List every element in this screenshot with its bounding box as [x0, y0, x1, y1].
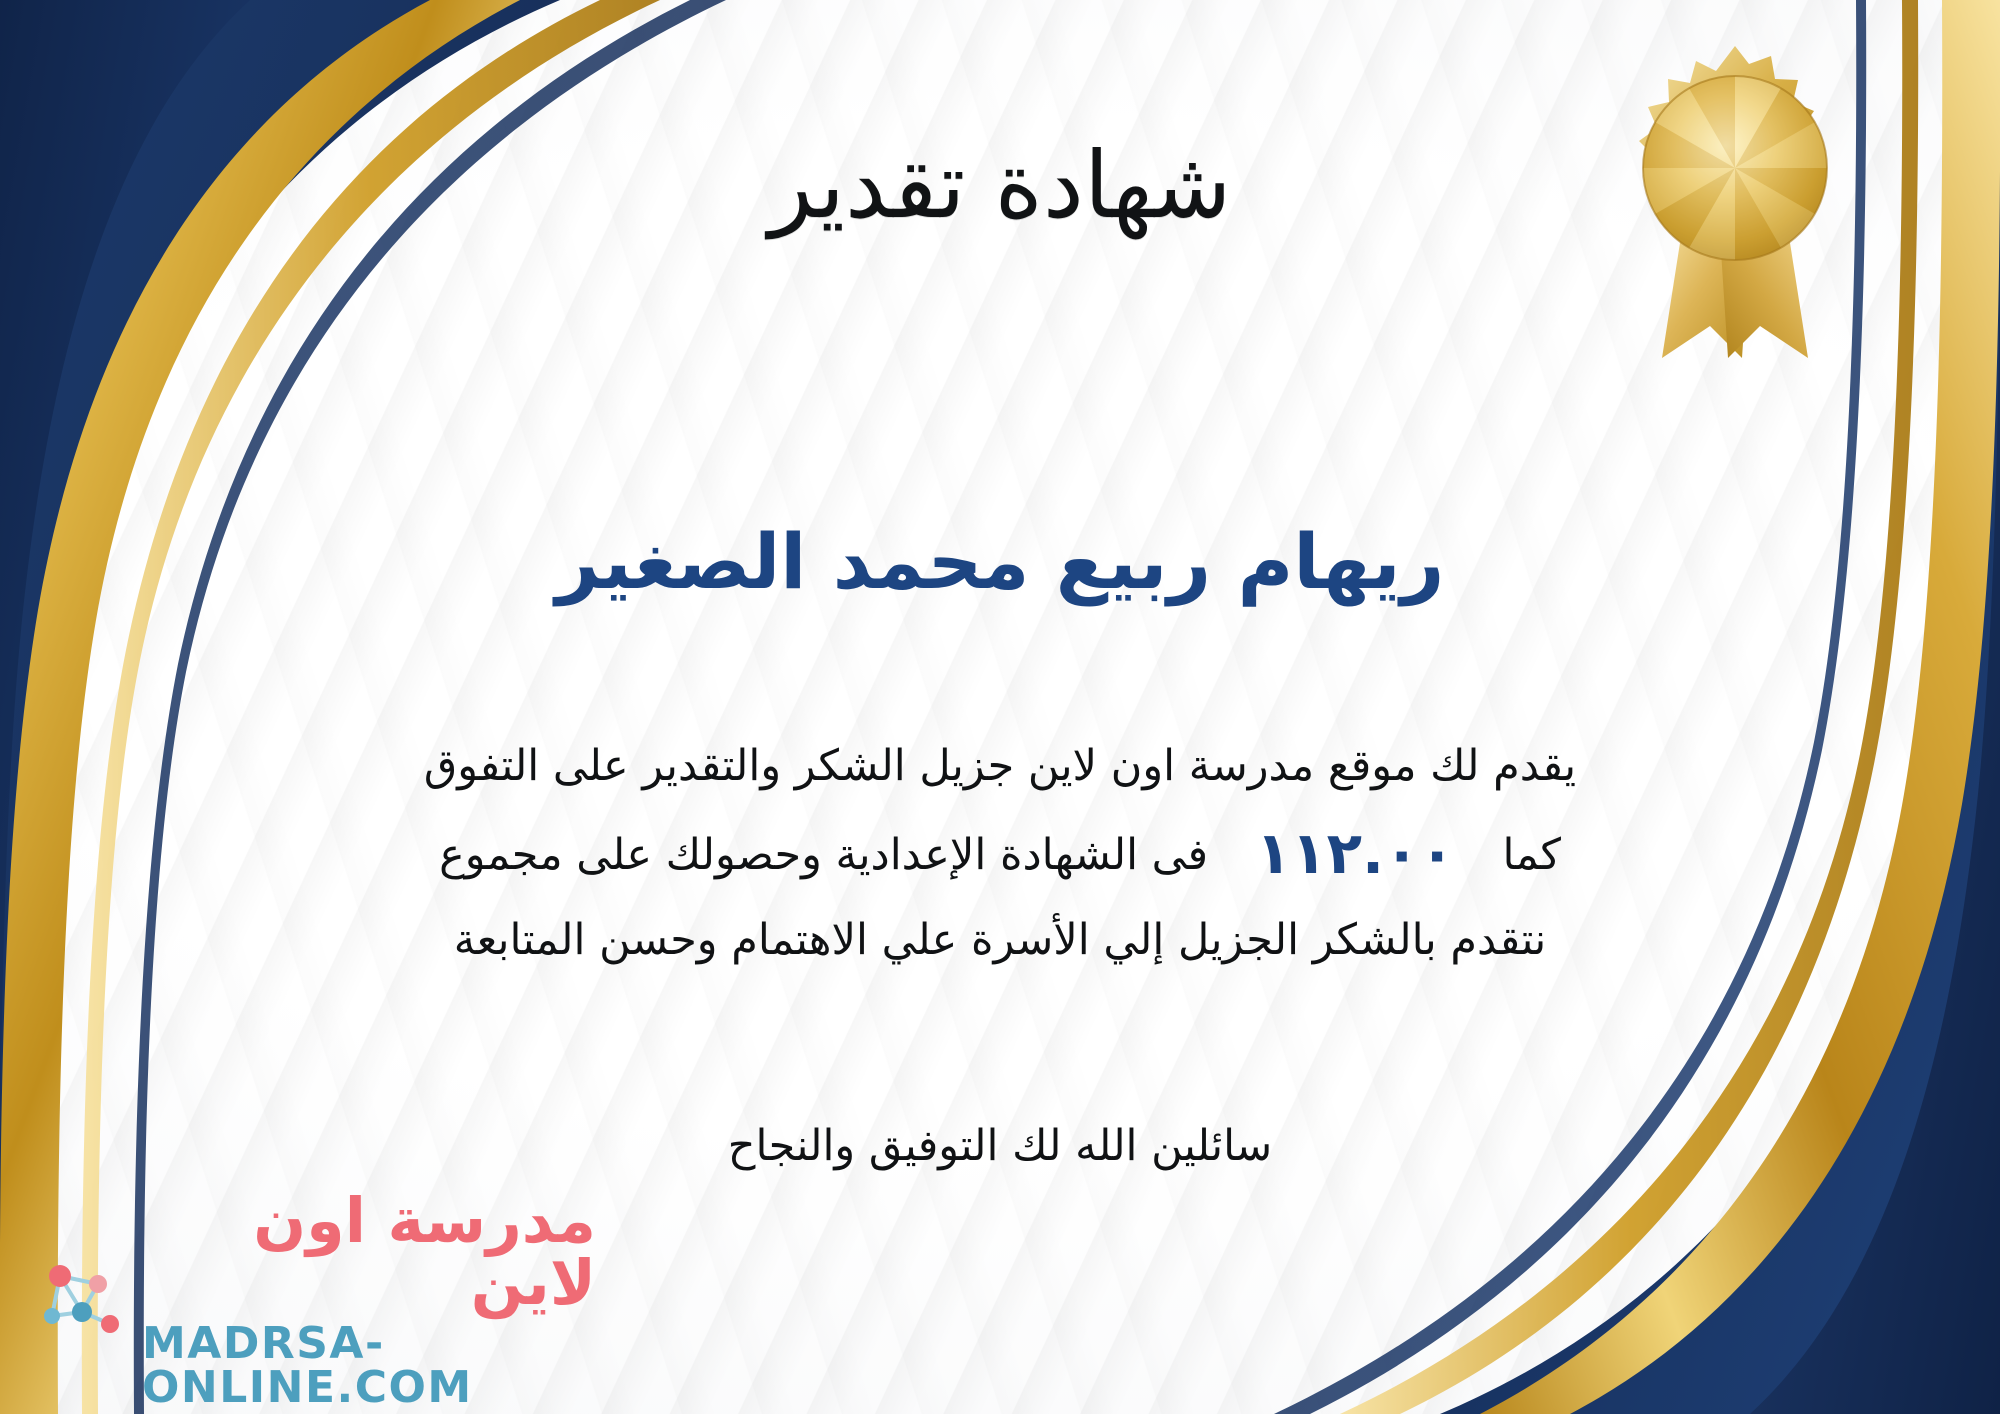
body-line-2-before: فى الشهادة الإعدادية وحصولك على مجموع	[439, 830, 1208, 880]
grade-value: ١١٢.٠٠	[1222, 819, 1489, 887]
logo-text-group: مدرسة اون لاين MADRSA-ONLINE.COM	[142, 1190, 596, 1410]
body-line-2: كما ١١٢.٠٠ فى الشهادة الإعدادية وحصولك ع…	[60, 804, 1940, 904]
student-name: ريهام ربيع محمد الصغير	[0, 520, 2000, 604]
logo-arabic-name: مدرسة اون لاين	[142, 1190, 596, 1314]
logo-website: MADRSA-ONLINE.COM	[142, 1322, 596, 1410]
body-line-1: يقدم لك موقع مدرسة اون لاين جزيل الشكر و…	[60, 730, 1940, 804]
certificate-title: شهادة تقدير	[0, 138, 2000, 235]
site-logo[interactable]: مدرسة اون لاين MADRSA-ONLINE.COM	[36, 1220, 596, 1380]
body-line-3: نتقدم بالشكر الجزيل إلي الأسرة علي الاهت…	[60, 904, 1940, 978]
closing-line: سائلين الله لك التوفيق والنجاح	[0, 1112, 2000, 1181]
network-nodes-icon	[36, 1254, 128, 1346]
body-line-2-after: كما	[1502, 830, 1560, 880]
certificate-body: يقدم لك موقع مدرسة اون لاين جزيل الشكر و…	[60, 730, 1940, 978]
certificate-canvas: شهادة تقدير ريهام ربيع محمد الصغير يقدم …	[0, 0, 2000, 1414]
